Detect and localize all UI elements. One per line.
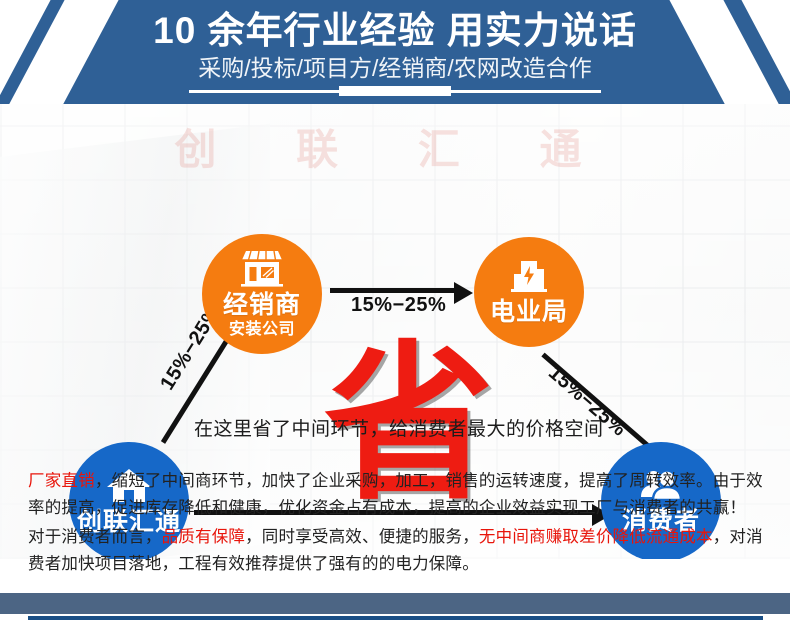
paragraph-2-part-b: ，同时享受高效、便捷的服务， [245,528,479,546]
arrow-dealer-to-bureau-head [454,282,473,304]
header-divider-center-block [339,86,451,96]
paragraph-2-highlight-2: 无中间商赚取差价降低流通成本 [479,528,713,546]
node-label-power-bureau: 电业局 [490,297,568,327]
arrow-label-dealer-to-bureau: 15%−25% [351,294,446,317]
storefront-icon [239,249,285,287]
promo-banner-page: 10 余年行业经验 用实力说话 采购/投标/项目方/经销商/农网改造合作 创 联… [0,0,790,621]
node-sublabel-dealer: 安装公司 [229,320,295,339]
paragraph-2-part-a: 对于消费者而言， [28,528,162,546]
footer-accent-line [28,616,763,620]
brand-watermark: 创 联 汇 通 [0,116,790,177]
arrow-dealer-to-bureau [330,288,456,293]
page-title: 10 余年行业经验 用实力说话 [0,8,790,54]
description-paragraph-2: 对于消费者而言，品质有保障，同时享受高效、便捷的服务，无中间商赚取差价降低流通成… [28,524,766,578]
diagram-node-dealer[interactable]: 经销商 安装公司 [202,234,322,354]
paragraph-1-highlight: 厂家直销 [28,472,95,490]
node-label-dealer: 经销商 [223,290,301,320]
description-paragraph-1: 厂家直销，缩短了中间商环节，加快了企业采购，加工，销售的运转速度，提高了周转效率… [28,468,766,522]
banner-header: 10 余年行业经验 用实力说话 采购/投标/项目方/经销商/农网改造合作 [0,0,790,104]
arrow-label-company-to-consumer: 在这里省了中间环节，给消费者最大的价格空间 [194,414,594,441]
diagram-node-power-bureau[interactable]: 电业局 [474,237,584,347]
paragraph-2-highlight-1: 品质有保障 [162,528,246,546]
paragraph-1-body: ，缩短了中间商环节，加快了企业采购，加工，销售的运转速度，提高了周转效率。由于效… [28,472,763,517]
footer-bar [0,593,790,614]
power-building-icon [508,258,550,294]
page-subtitle: 采购/投标/项目方/经销商/农网改造合作 [0,54,790,82]
